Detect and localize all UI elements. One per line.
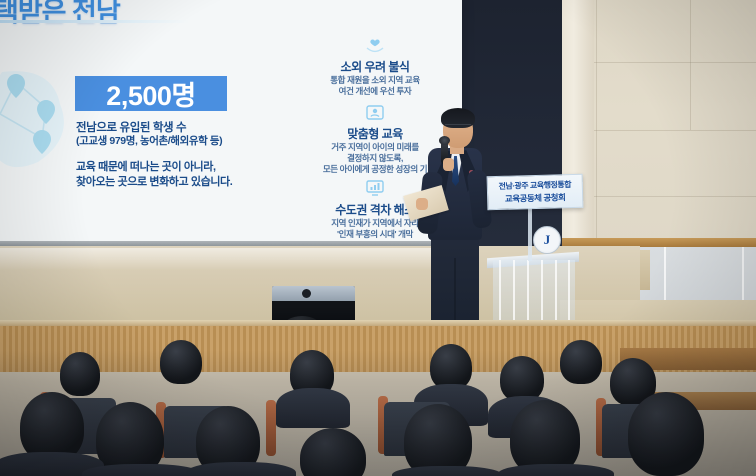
slide-caption-paren: (고교생 979명, 농어촌/해외유학 등): [76, 133, 222, 148]
slide-column-1-sub-2: 여건 개선에 우선 투자: [290, 86, 460, 97]
microphone-head-icon: [439, 136, 450, 145]
screen-light-glow: [0, 248, 462, 270]
slide-column-1-sub-1: 통합 재원을 소외 지역 교육: [290, 75, 460, 86]
highlight-number: 2,500명: [106, 74, 195, 113]
hand-heart-icon: [290, 38, 460, 58]
podium-sign: 전남·광주 교육행정통합 교육공동체 공청회: [487, 174, 584, 211]
podium-sign-stem: [528, 205, 532, 261]
person-card-icon: [290, 105, 460, 125]
projection-screen: 택받은 전남 2,500명 전남으로 유입된 학생 수 (고교생 979명, 농…: [0, 0, 462, 248]
jeonnam-education-emblem: J: [533, 226, 561, 254]
slide-column-1: 소외 우려 불식 통합 재원을 소외 지역 교육 여건 개선에 우선 투자: [290, 38, 460, 97]
slide-body-line2: 찾아오는 곳으로 변화하고 있습니다.: [76, 173, 232, 189]
slide-title: 택받은 전남: [0, 0, 120, 29]
projector-lens-icon: [302, 289, 311, 298]
wall-column: [560, 0, 594, 246]
presenter-hand-holding-paper: [416, 198, 428, 210]
slide-column-1-heading: 소외 우려 불식: [290, 58, 460, 75]
slide-body-line1: 교육 때문에 떠나는 곳이 아니라,: [76, 158, 216, 174]
podium-sign-line1: 전남·광주 교육행정통합: [498, 179, 571, 192]
audience-shadow-overlay: [0, 350, 756, 476]
presentation-scene: 택받은 전남 2,500명 전남으로 유입된 학생 수 (고교생 979명, 농…: [0, 0, 756, 476]
slide-column-2-heading: 맞춤형 교육: [290, 125, 460, 142]
highlight-number-box: 2,500명: [75, 76, 227, 111]
emblem-letter: J: [544, 232, 551, 248]
presenter-leg-split: [454, 258, 456, 328]
slide-title-underline: [0, 20, 190, 23]
floor-projector-top: [272, 286, 355, 301]
podium-body: [493, 260, 575, 328]
presenter-glasses: [445, 124, 471, 131]
podium-sign-line2: 교육공동체 공청회: [505, 191, 566, 205]
presenter-hand-holding-mic: [443, 158, 454, 171]
map-pin-network-icon: [0, 52, 82, 182]
